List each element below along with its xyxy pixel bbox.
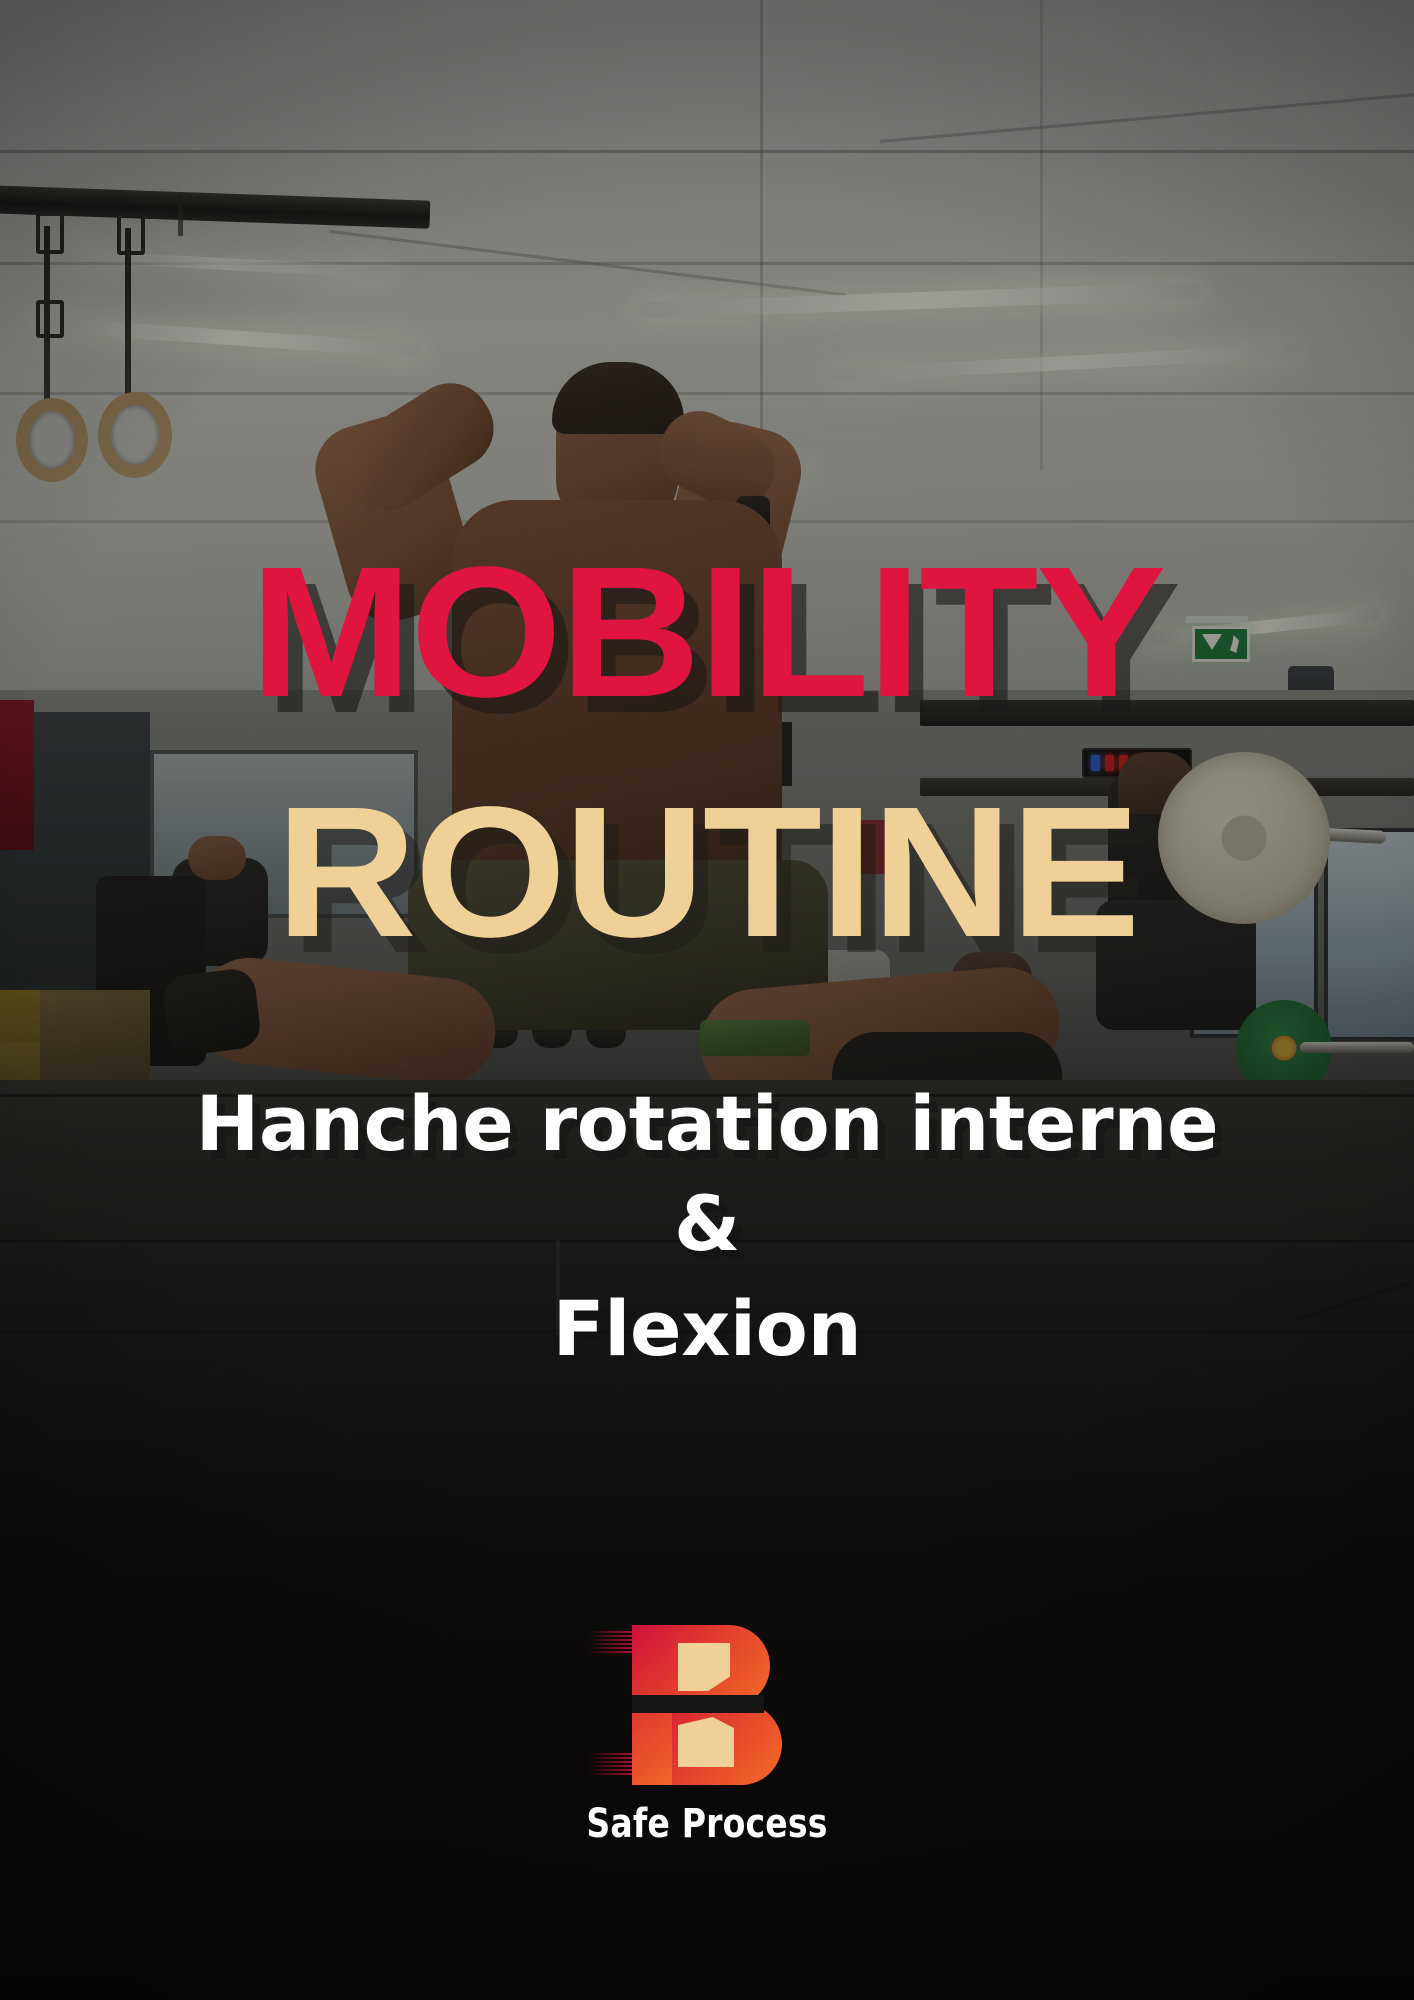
brand-wordmark: Safe Process — [57, 1801, 1358, 1847]
page-title-line2: ROUTINE — [0, 780, 1414, 966]
subtitle-ampersand: & — [0, 1185, 1414, 1263]
b-monogram-icon — [632, 1625, 782, 1785]
subtitle-line1: Hanche rotation interne — [0, 1085, 1414, 1163]
poster-canvas: MOBILITY ROUTINE Hanche rotation interne… — [0, 0, 1414, 2000]
page-title-line1: MOBILITY — [0, 540, 1414, 726]
b-letterform — [632, 1625, 782, 1785]
brand-logo-block: Safe Process — [0, 1625, 1414, 1847]
subtitle-line3: Flexion — [0, 1290, 1414, 1368]
